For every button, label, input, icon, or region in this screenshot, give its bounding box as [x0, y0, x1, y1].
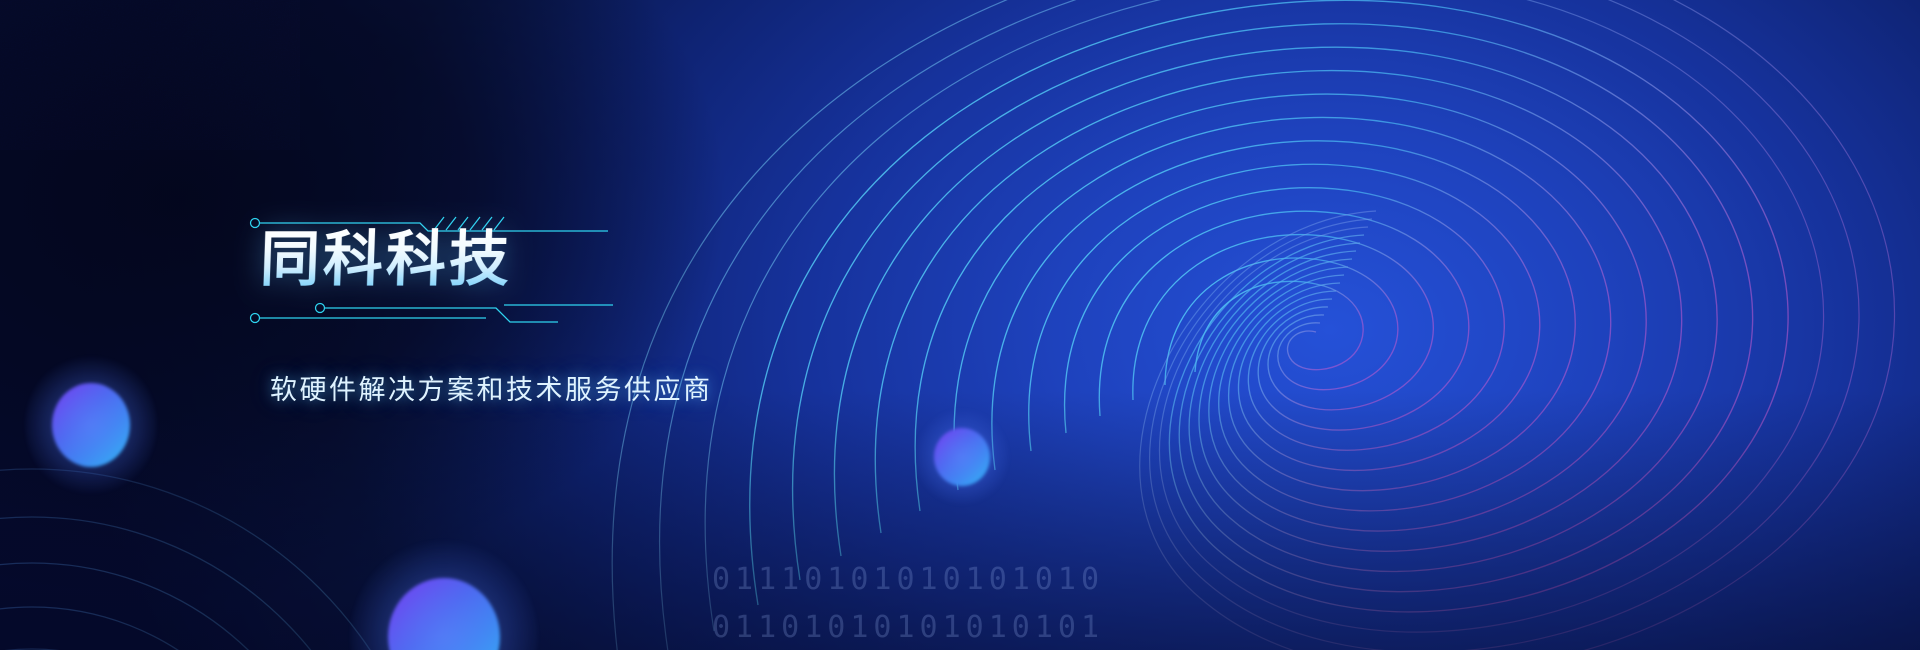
noise-texture	[0, 0, 300, 150]
decorative-sphere-center	[934, 428, 990, 486]
binary-line-2: 01101010101010101	[712, 604, 1104, 650]
binary-line-1: 01110101010101010	[712, 556, 1104, 604]
decorative-sphere-bottom	[388, 578, 500, 650]
decorative-sphere-left	[52, 383, 130, 467]
hero-text-block: 同科科技 软硬件解决方案和技术服务供应商	[248, 170, 868, 420]
page-subtitle: 软硬件解决方案和技术服务供应商	[270, 368, 713, 407]
page-title: 同科科技	[259, 228, 513, 292]
hero-banner: 01110101010101010 01101010101010101	[0, 0, 1920, 650]
binary-decoration: 01110101010101010 01101010101010101	[712, 556, 1104, 650]
tech-line-bottom	[248, 298, 613, 330]
